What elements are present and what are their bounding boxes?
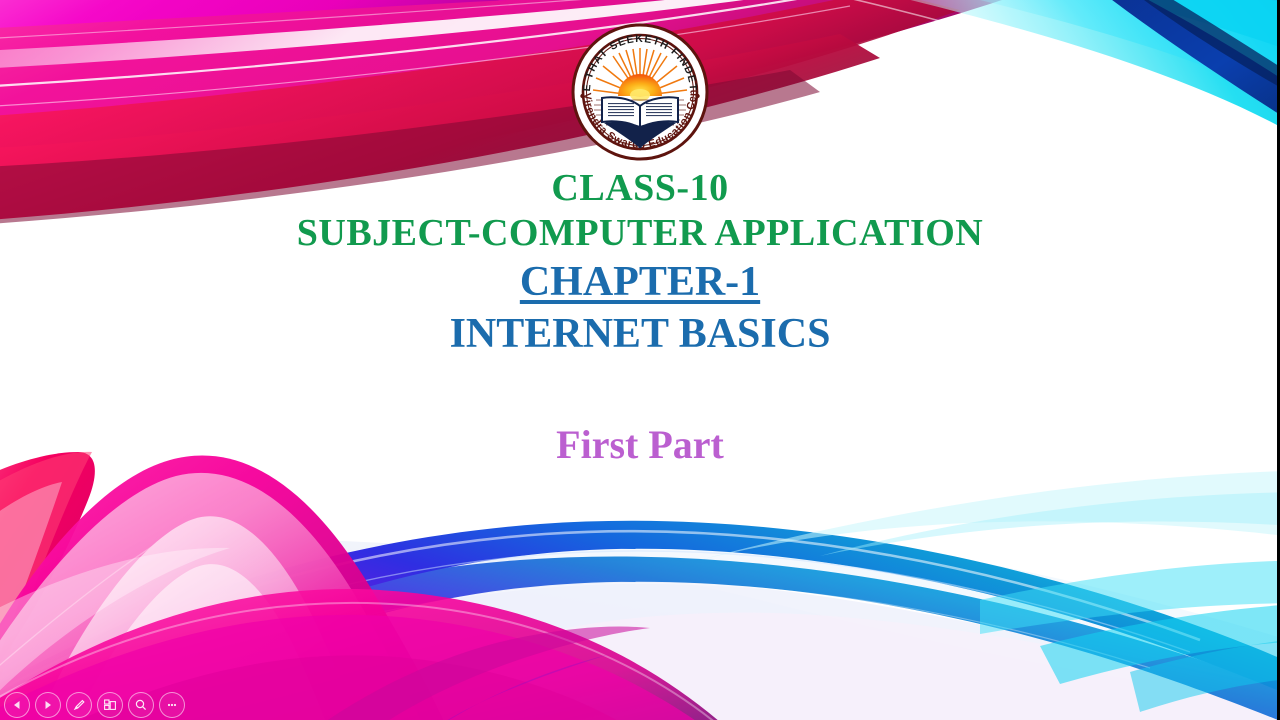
more-options-icon: [165, 698, 179, 712]
presentation-slide: HE THAT SEEKETH FINDETH Dr. Virendra Swa…: [0, 0, 1280, 720]
magnifier-icon: [134, 698, 148, 712]
zoom-slide-button[interactable]: [128, 692, 154, 718]
slideshow-toolbar[interactable]: [4, 692, 185, 718]
pen-icon: [72, 698, 86, 712]
all-slides-button[interactable]: [97, 692, 123, 718]
previous-slide-button[interactable]: [4, 692, 30, 718]
all-slides-icon: [103, 698, 117, 712]
next-slide-button[interactable]: [35, 692, 61, 718]
more-options-button[interactable]: [159, 692, 185, 718]
previous-slide-icon: [11, 699, 23, 711]
decorative-background: [0, 0, 1280, 720]
next-slide-icon: [42, 699, 54, 711]
pen-tools-button[interactable]: [66, 692, 92, 718]
